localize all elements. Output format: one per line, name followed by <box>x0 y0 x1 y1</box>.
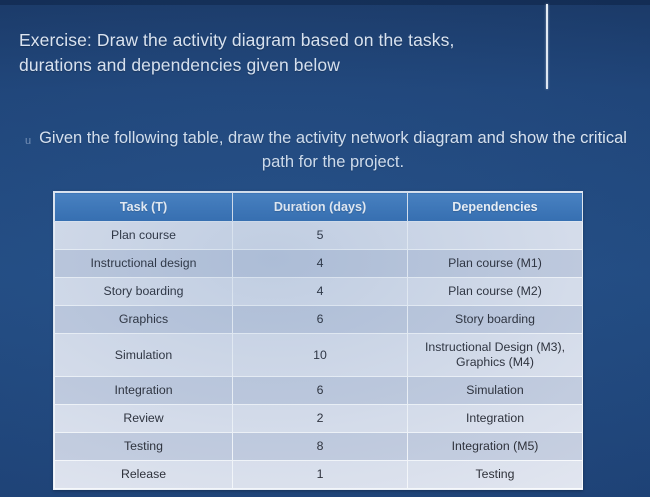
table-row: Plan course5 <box>55 222 583 250</box>
cell-dependencies <box>408 222 583 250</box>
cell-duration: 1 <box>233 461 408 489</box>
cell-duration: 4 <box>233 278 408 306</box>
task-table-body: Plan course5Instructional design4Plan co… <box>55 222 583 489</box>
table-row: Release1Testing <box>55 461 583 489</box>
column-header-duration: Duration (days) <box>233 193 408 222</box>
cell-task: Simulation <box>55 334 233 377</box>
cell-duration: 6 <box>233 377 408 405</box>
table-row: Graphics6Story boarding <box>55 306 583 334</box>
cell-task: Review <box>55 405 233 433</box>
task-table: Task (T) Duration (days) Dependencies Pl… <box>54 192 583 489</box>
decorative-vertical-rule <box>546 4 548 89</box>
bullet-paragraph: u Given the following table, draw the ac… <box>18 126 628 174</box>
table-row: Story boarding4Plan course (M2) <box>55 278 583 306</box>
task-table-head: Task (T) Duration (days) Dependencies <box>55 193 583 222</box>
column-header-task: Task (T) <box>55 193 233 222</box>
cell-duration: 4 <box>233 250 408 278</box>
cell-task: Plan course <box>55 222 233 250</box>
table-row: Testing8Integration (M5) <box>55 433 583 461</box>
cell-dependencies: Integration (M5) <box>408 433 583 461</box>
cell-duration: 2 <box>233 405 408 433</box>
cell-dependencies: Plan course (M2) <box>408 278 583 306</box>
cell-dependencies: Instructional Design (M3), Graphics (M4) <box>408 334 583 377</box>
cell-task: Story boarding <box>55 278 233 306</box>
table-row: Integration6Simulation <box>55 377 583 405</box>
bullet-paragraph-text: Given the following table, draw the acti… <box>38 126 628 174</box>
cell-task: Integration <box>55 377 233 405</box>
table-header-row: Task (T) Duration (days) Dependencies <box>55 193 583 222</box>
cell-duration: 10 <box>233 334 408 377</box>
cell-task: Testing <box>55 433 233 461</box>
cell-dependencies: Integration <box>408 405 583 433</box>
cell-task: Instructional design <box>55 250 233 278</box>
cell-dependencies: Simulation <box>408 377 583 405</box>
cell-duration: 6 <box>233 306 408 334</box>
task-table-container: Task (T) Duration (days) Dependencies Pl… <box>53 191 583 490</box>
cell-dependencies: Testing <box>408 461 583 489</box>
cell-dependencies: Plan course (M1) <box>408 250 583 278</box>
cell-duration: 8 <box>233 433 408 461</box>
cell-task: Graphics <box>55 306 233 334</box>
cell-duration: 5 <box>233 222 408 250</box>
slide-title: Exercise: Draw the activity diagram base… <box>19 28 529 78</box>
slide-canvas: Exercise: Draw the activity diagram base… <box>0 0 650 497</box>
cell-dependencies: Story boarding <box>408 306 583 334</box>
table-row: Review2Integration <box>55 405 583 433</box>
bullet-marker-icon: u <box>18 126 38 152</box>
cell-task: Release <box>55 461 233 489</box>
table-row: Simulation10Instructional Design (M3), G… <box>55 334 583 377</box>
column-header-dependencies: Dependencies <box>408 193 583 222</box>
table-row: Instructional design4Plan course (M1) <box>55 250 583 278</box>
